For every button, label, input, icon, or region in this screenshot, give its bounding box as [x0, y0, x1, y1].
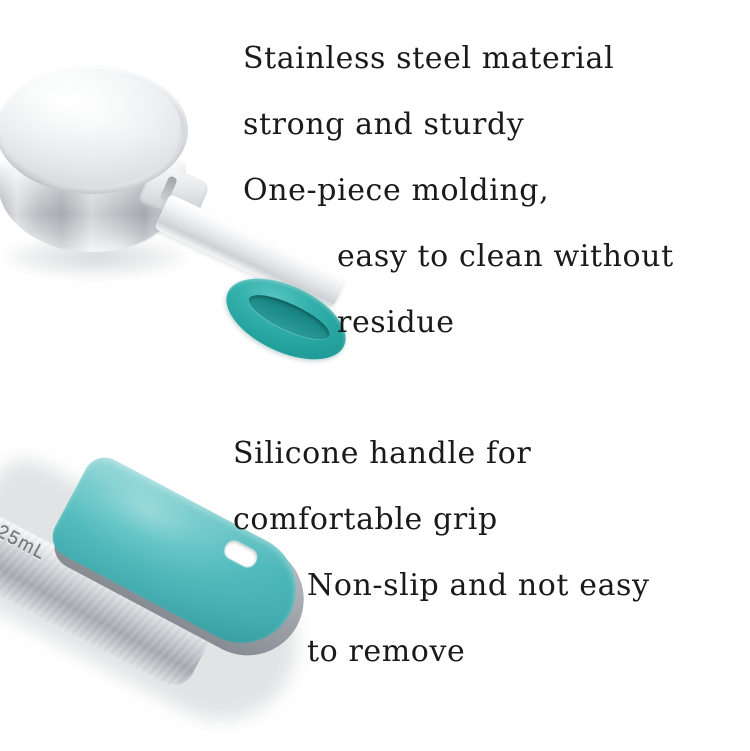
feature-text-silicone: Silicone handle for comfortable grip Non… [233, 421, 650, 685]
feature-line: comfortable grip [233, 487, 650, 553]
feature-line: Silicone handle for [233, 421, 650, 487]
cup-top-shading [3, 69, 181, 187]
feature-text-material: Stainless steel material strong and stur… [243, 26, 674, 356]
feature-line: One-piece molding, [243, 158, 674, 224]
feature-line: to remove [233, 619, 650, 685]
product-feature-image: up 125mL Stainless steel material strong… [0, 0, 750, 751]
feature-line: Non-slip and not easy [233, 553, 650, 619]
feature-line: easy to clean without [243, 224, 674, 290]
feature-line: residue [243, 290, 674, 356]
feature-line: strong and sturdy [243, 92, 674, 158]
feature-line: Stainless steel material [243, 26, 674, 92]
